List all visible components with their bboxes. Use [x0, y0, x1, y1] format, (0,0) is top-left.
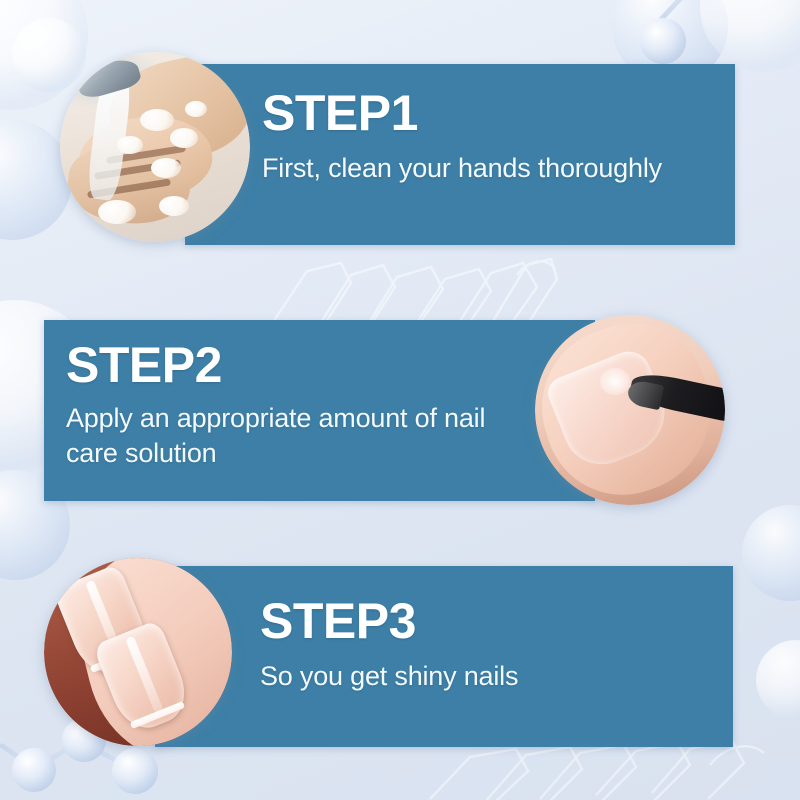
nail-care-steps-infographic: STEP1 First, clean your hands thoroughly… — [0, 0, 800, 800]
step-3-text-block: STEP3 So you get shiny nails — [260, 596, 715, 694]
step-3-image-shiny-nails — [44, 558, 232, 746]
step-3-title: STEP3 — [260, 596, 715, 647]
step-3-row: STEP3 So you get shiny nails — [0, 0, 800, 800]
step-3-description: So you get shiny nails — [260, 659, 715, 694]
